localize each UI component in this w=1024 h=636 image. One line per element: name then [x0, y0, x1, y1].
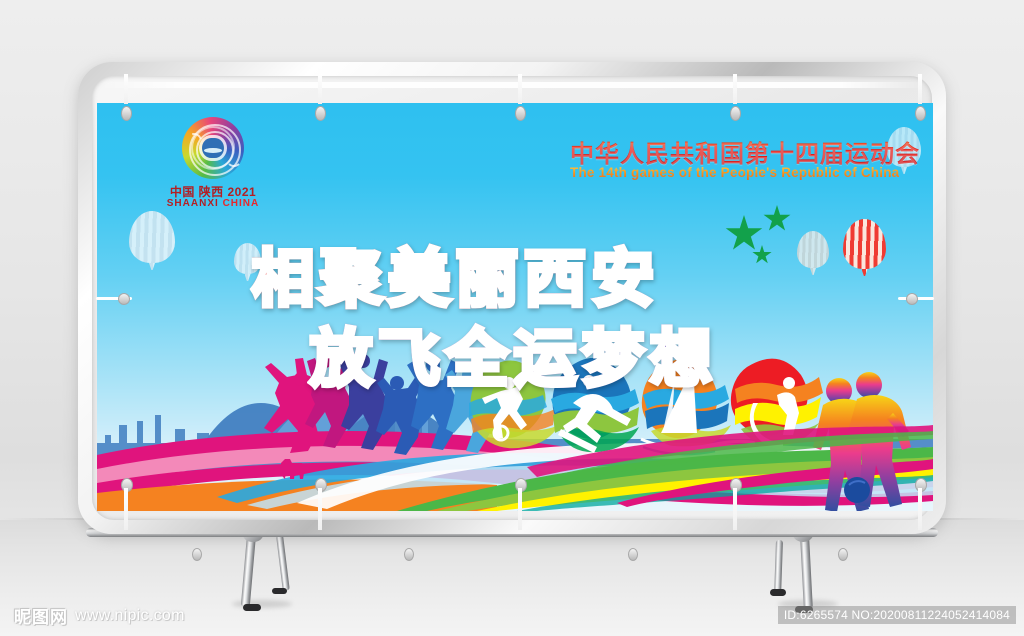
slogan-line-2: 放飞全运梦想 — [310, 308, 718, 398]
grommet-top-2 — [315, 106, 326, 121]
site-watermark: 昵图网 www.nipic.com — [14, 603, 185, 628]
stand-foot-left-front — [243, 604, 261, 611]
strap-bottom-5 — [918, 488, 922, 530]
watermark-site-url: www.nipic.com — [75, 607, 185, 625]
strap-bottom-4 — [733, 488, 737, 530]
logo-line-en: SHAANXI CHINA — [158, 198, 268, 209]
emblem-center-motif — [202, 138, 224, 158]
grommet-lower-1 — [192, 548, 202, 561]
logo-china: CHINA — [223, 198, 260, 209]
games-logo: 中国 陕西 2021 SHAANXI CHINA — [158, 117, 268, 212]
slogan-line-1: 相聚美丽西安 — [252, 228, 660, 318]
watermark-site-cn: 昵图网 — [14, 603, 68, 628]
strap-bottom-1 — [124, 488, 128, 530]
header-title-en: The 14th games of the People's Republic … — [570, 165, 899, 180]
strap-2 — [318, 74, 322, 104]
strap-1 — [124, 74, 128, 104]
grommet-side-left — [118, 293, 130, 305]
grommet-top-3 — [515, 106, 526, 121]
grommet-top-5 — [915, 106, 926, 121]
grommet-top-1 — [121, 106, 132, 121]
stand-foot-right-back — [770, 589, 786, 596]
grommet-side-right — [906, 293, 918, 305]
screenshot-canvas: 中国 陕西 2021 SHAANXI CHINA 中华人民共和国第十四届运动会 … — [0, 0, 1024, 636]
logo-shaanxi: SHAANXI — [167, 198, 219, 209]
image-id-tag: ID:6265574 NO:20200811224052414084 — [778, 606, 1016, 624]
frame-top-highlight — [100, 82, 924, 88]
printed-banner-poster: 中国 陕西 2021 SHAANXI CHINA 中华人民共和国第十四届运动会 … — [97, 103, 933, 511]
strap-bottom-2 — [318, 488, 322, 530]
header-title-cn: 中华人民共和国第十四届运动会 — [570, 134, 920, 169]
grommet-lower-3 — [628, 548, 638, 561]
strap-3 — [518, 74, 522, 104]
grommet-top-4 — [730, 106, 741, 121]
strap-4 — [733, 74, 737, 104]
14th-national-games-emblem — [182, 117, 244, 179]
strap-5 — [918, 74, 922, 104]
grommet-lower-2 — [404, 548, 414, 561]
stand-foot-left-back — [272, 588, 287, 594]
strap-bottom-3 — [518, 488, 522, 530]
grommet-lower-4 — [838, 548, 848, 561]
